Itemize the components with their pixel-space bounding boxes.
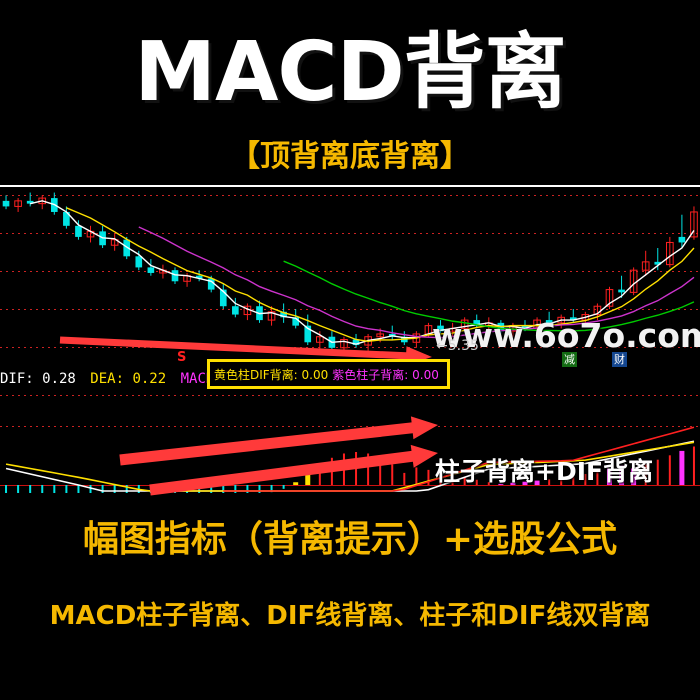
yellow-bar-dif-divergence-label: 黄色柱DIF背离: 0.00 xyxy=(210,366,328,383)
page-title: MACD背离 xyxy=(0,30,700,116)
dif-readout: DIF: 0.28 xyxy=(0,371,76,387)
price-marker-label: ←5.35 xyxy=(436,338,479,354)
magenta-bar-divergence-label: 紫色柱子背离: 0.00 xyxy=(328,366,439,383)
divergence-callout-box[interactable]: 黄色柱DIF背离: 0.00 紫色柱子背离: 0.00 xyxy=(207,359,450,389)
reduce-badge[interactable]: 减 xyxy=(562,352,577,367)
page-subtitle: 【顶背离底背离】 xyxy=(0,140,700,174)
sell-signal-marker: S xyxy=(177,350,186,365)
dea-readout: DEA: 0.22 xyxy=(90,371,166,387)
footer-caption-secondary: MACD柱子背离、DIF线背离、柱子和DIF线双背离 xyxy=(0,600,700,632)
divergence-annotation: 柱子背离+DIF背离 xyxy=(435,452,653,488)
wealth-badge[interactable]: 财 xyxy=(612,352,627,367)
poster-root: MACD背离 【顶背离底背离】 www.6o7o.com ←5.35 S 减 财… xyxy=(0,0,700,700)
footer-caption-primary: 幅图指标（背离提示）+选股公式 xyxy=(0,518,700,562)
